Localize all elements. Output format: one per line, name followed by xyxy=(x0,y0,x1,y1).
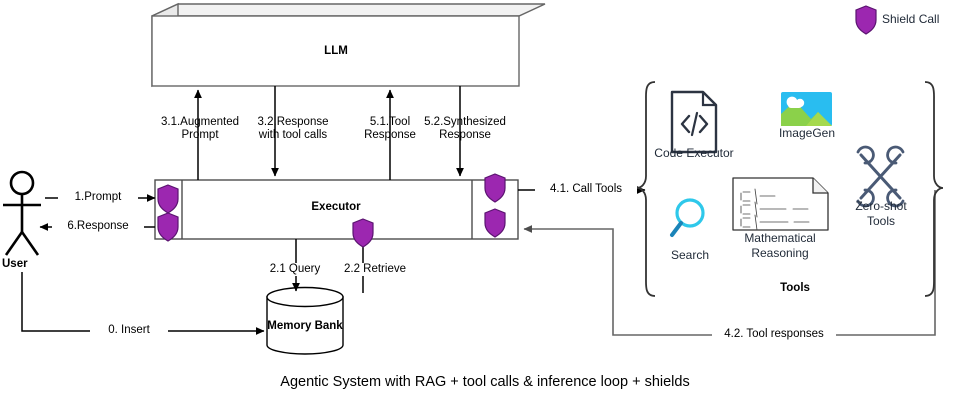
edge-label-synthesized-response: 5.2.Synthesized Response xyxy=(409,116,521,142)
user-leg-right xyxy=(22,232,38,255)
executor-label: Executor xyxy=(296,201,376,214)
user-head xyxy=(11,172,33,194)
llm-box-top xyxy=(152,4,545,16)
edge-insert xyxy=(22,272,264,331)
tool-label-zero-shot-tools: Zero-shot Tools xyxy=(840,199,922,228)
code-file-icon[interactable] xyxy=(672,92,716,152)
llm-label: LLM xyxy=(296,45,376,58)
edge-label-insert: 0. Insert xyxy=(90,324,168,337)
edge-label-response-tool-calls: 3.2.Response with tool calls xyxy=(233,116,353,142)
edge-label-response: 6.Response xyxy=(52,220,144,233)
user-node[interactable] xyxy=(3,172,41,255)
edge-label-call-tools: 4.1. Call Tools xyxy=(535,183,637,196)
tools-group-label: Tools xyxy=(755,282,835,295)
tool-label-search: Search xyxy=(657,248,723,263)
edge-label-query: 2.1 Query xyxy=(258,263,332,276)
tools-left-brace xyxy=(637,82,655,296)
edge-label-retrieve: 2.2 Retrieve xyxy=(332,263,418,276)
image-gen-icon[interactable] xyxy=(781,92,832,126)
edge-label-prompt: 1.Prompt xyxy=(58,191,138,204)
shield-icon-memory xyxy=(353,219,373,247)
magnifier-icon[interactable] xyxy=(672,200,703,235)
math-document-icon[interactable] xyxy=(733,178,828,230)
edge-label-tool-responses: 4.2. Tool responses xyxy=(712,328,836,341)
diagram-canvas: LLM Executor Memory Bank User Tools 1.Pr… xyxy=(0,0,970,411)
tool-label-math-reasoning: Mathematical Reasoning xyxy=(728,231,832,260)
tool-label-code-executor: Code Executor xyxy=(645,146,743,161)
crossed-wrenches-icon[interactable] xyxy=(858,147,903,206)
memory-bank-label: Memory Bank xyxy=(262,320,348,333)
diagram-svg xyxy=(0,0,970,411)
diagram-caption: Agentic System with RAG + tool calls & i… xyxy=(0,374,970,390)
user-label: User xyxy=(2,258,46,271)
tool-label-imagegen: ImageGen xyxy=(766,126,848,141)
tools-right-brace xyxy=(925,82,943,296)
user-leg-left xyxy=(6,232,22,255)
memory-cylinder-top xyxy=(267,288,343,307)
shield-icon-legend xyxy=(856,6,876,34)
legend-shield-label: Shield Call xyxy=(882,12,970,27)
